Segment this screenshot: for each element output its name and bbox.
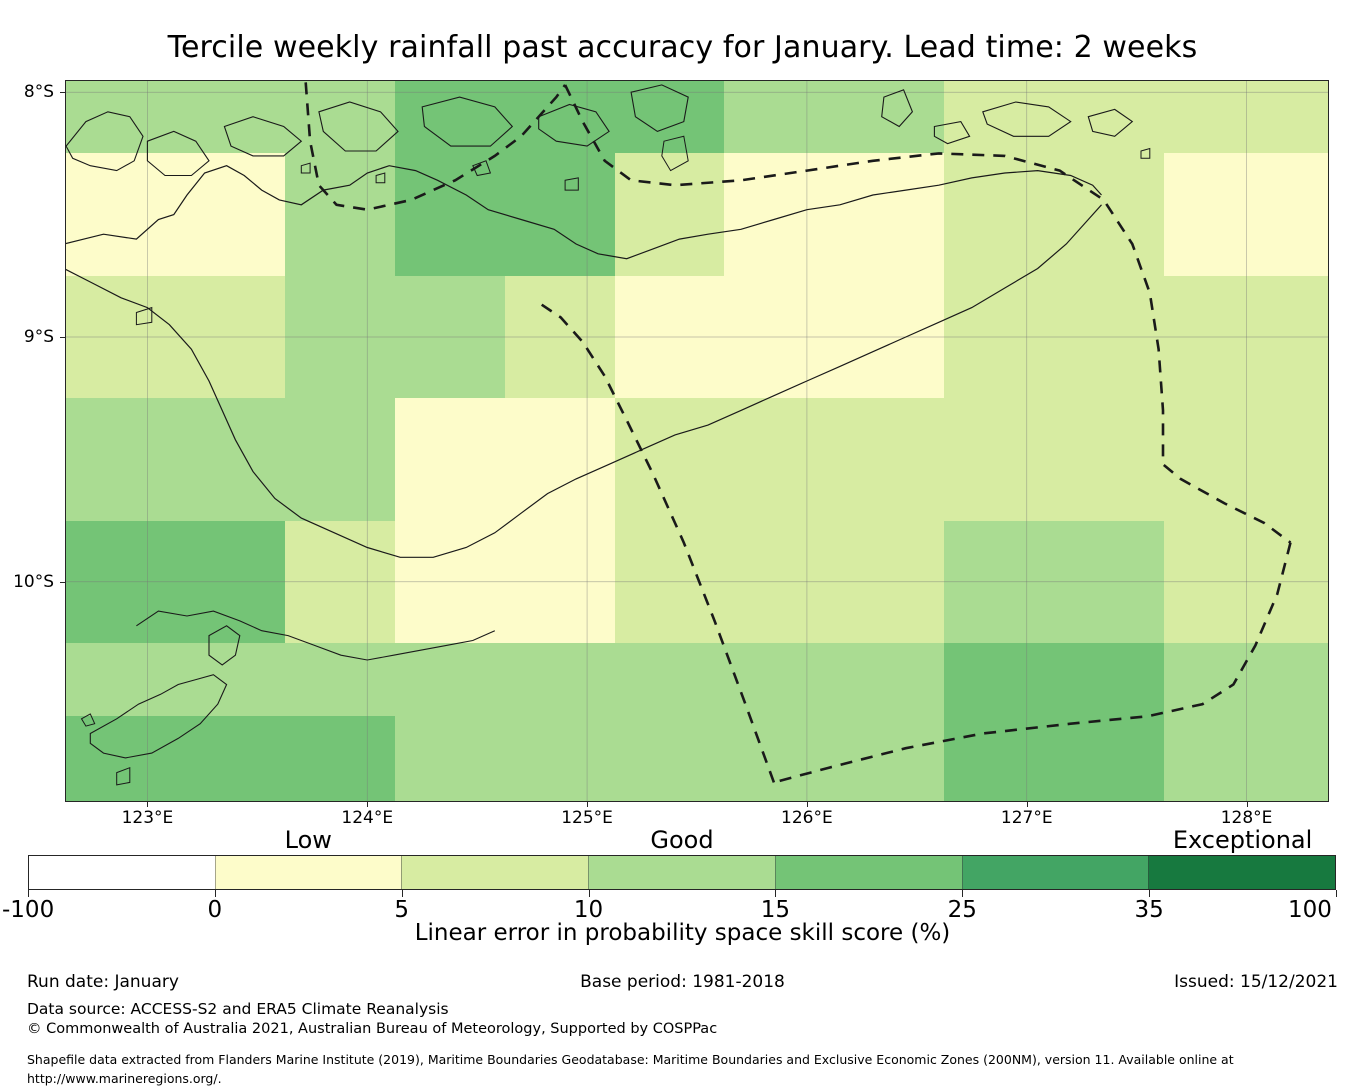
heatmap-cell <box>724 276 835 399</box>
heatmap-cell <box>834 276 945 399</box>
x-tick-mark <box>147 802 148 807</box>
heatmap-cell <box>1164 716 1275 802</box>
heatmap-plot-area <box>65 80 1329 802</box>
heatmap-cell <box>834 398 945 521</box>
heatmap-cell <box>395 643 506 717</box>
colorbar-segment[interactable] <box>1148 856 1335 889</box>
heatmap-cell <box>65 80 176 154</box>
colorbar-ticks: -1000510152535100 <box>0 892 1365 922</box>
colorbar-segment[interactable] <box>962 856 1149 889</box>
heatmap-cell <box>1274 153 1329 276</box>
shapefile-attribution-line2: http://www.marineregions.org/. <box>27 1071 222 1086</box>
x-tick-label: 126°E <box>781 808 833 828</box>
heatmap-cell <box>724 521 835 644</box>
heatmap-cell <box>505 153 616 276</box>
heatmap-cell <box>395 398 506 521</box>
heatmap-cell <box>505 521 616 644</box>
heatmap-cell <box>1054 643 1165 717</box>
y-tick-mark <box>60 92 65 93</box>
heatmap-cell <box>724 153 835 276</box>
shapefile-attribution-line1: Shapefile data extracted from Flanders M… <box>27 1052 1234 1067</box>
heatmap-cell <box>395 716 506 802</box>
y-tick-mark <box>60 337 65 338</box>
heatmap-cell <box>615 643 726 717</box>
heatmap-cell <box>944 80 1055 154</box>
x-tick-label: 127°E <box>1001 808 1053 828</box>
colorbar-tick-mark <box>775 890 776 897</box>
heatmap-cell <box>395 276 506 399</box>
heatmap-cell <box>65 153 176 276</box>
x-tick-mark <box>587 802 588 807</box>
heatmap-cell <box>1054 398 1165 521</box>
heatmap-cell <box>1164 80 1275 154</box>
heatmap-cell <box>834 716 945 802</box>
x-tick-mark <box>807 802 808 807</box>
heatmap-cell <box>834 643 945 717</box>
heatmap-cell <box>65 276 176 399</box>
colorbar-segment[interactable] <box>29 856 215 889</box>
heatmap-cell <box>65 716 176 802</box>
x-tick-mark <box>367 802 368 807</box>
y-tick-mark <box>60 582 65 583</box>
heatmap-cell <box>395 153 506 276</box>
colorbar-tick-mark <box>1149 890 1150 897</box>
heatmap-cell <box>175 153 286 276</box>
heatmap-cell <box>505 716 616 802</box>
heatmap-cell <box>175 398 286 521</box>
heatmap-cell <box>944 398 1055 521</box>
heatmap-cell <box>1274 643 1329 717</box>
heatmap-cell <box>615 716 726 802</box>
heatmap-cell <box>395 80 506 154</box>
footer-top-row: Run date: January Base period: 1981-2018… <box>0 972 1365 998</box>
heatmap-cell <box>1164 398 1275 521</box>
heatmap-cell <box>615 276 726 399</box>
heatmap-cell <box>285 398 396 521</box>
heatmap-cell <box>65 521 176 644</box>
heatmap-cell <box>944 153 1055 276</box>
heatmap-cell <box>285 521 396 644</box>
colorbar-tick-mark <box>215 890 216 897</box>
x-tick-label: 123°E <box>122 808 174 828</box>
colorbar-segment[interactable] <box>588 856 775 889</box>
colorbar[interactable] <box>28 855 1336 890</box>
colorbar-tick-mark <box>962 890 963 897</box>
heatmap-cell <box>285 80 396 154</box>
heatmap-cell <box>505 276 616 399</box>
heatmap-cell <box>834 521 945 644</box>
x-tick-mark <box>1027 802 1028 807</box>
heatmap-cell <box>834 80 945 154</box>
page-title: Tercile weekly rainfall past accuracy fo… <box>0 30 1365 65</box>
heatmap-cell <box>615 398 726 521</box>
y-tick-label: 10°S <box>13 572 54 592</box>
heatmap-cell <box>1164 643 1275 717</box>
heatmap-cell <box>1274 398 1329 521</box>
x-tick-mark <box>1247 802 1248 807</box>
heatmap-cell <box>175 80 286 154</box>
heatmap-cell <box>944 276 1055 399</box>
heatmap-cell <box>1054 716 1165 802</box>
heatmap-cell <box>724 398 835 521</box>
heatmap-cell <box>1274 276 1329 399</box>
heatmap-cell <box>285 276 396 399</box>
heatmap-cell <box>175 643 286 717</box>
heatmap-cell <box>1274 716 1329 802</box>
heatmap-cell <box>1164 153 1275 276</box>
colorbar-tick-mark <box>28 890 29 897</box>
footer: Run date: January Base period: 1981-2018… <box>0 972 1365 998</box>
heatmap-cell <box>615 521 726 644</box>
colorbar-quality-label: Exceptional <box>1173 826 1313 854</box>
heatmap-cell <box>724 80 835 154</box>
heatmap-cell <box>285 716 396 802</box>
heatmap-cell <box>65 643 176 717</box>
heatmap-cell <box>834 153 945 276</box>
heatmap-cell <box>175 276 286 399</box>
heatmap-cell <box>505 80 616 154</box>
heatmap-cell <box>1164 276 1275 399</box>
heatmap-cell <box>1054 80 1165 154</box>
heatmap-cell <box>65 398 176 521</box>
colorbar-tick-mark <box>402 890 403 897</box>
colorbar-quality-label: Good <box>650 826 713 854</box>
heatmap-cell <box>615 80 726 154</box>
data-source: Data source: ACCESS-S2 and ERA5 Climate … <box>27 1000 449 1018</box>
heatmap-cell <box>505 643 616 717</box>
colorbar-quality-label: Low <box>285 826 332 854</box>
heatmap-cell <box>944 521 1055 644</box>
heatmap-cell <box>395 521 506 644</box>
colorbar-tick-mark <box>589 890 590 897</box>
heatmap-cell <box>1274 80 1329 154</box>
x-tick-label: 128°E <box>1221 808 1273 828</box>
heatmap-cell <box>175 716 286 802</box>
colorbar-segment[interactable] <box>775 856 962 889</box>
y-tick-label: 8°S <box>24 82 54 102</box>
colorbar-segment[interactable] <box>401 856 588 889</box>
heatmap-cell <box>285 153 396 276</box>
heatmap-cell <box>1054 276 1165 399</box>
colorbar-tick-mark <box>1336 890 1337 897</box>
base-period: Base period: 1981-2018 <box>0 972 1365 992</box>
x-tick-label: 125°E <box>561 808 613 828</box>
y-tick-label: 9°S <box>24 327 54 347</box>
heatmap-cell <box>724 716 835 802</box>
heatmap-cell <box>944 716 1055 802</box>
heatmap-cell <box>1164 521 1275 644</box>
heatmap-cell <box>944 643 1055 717</box>
heatmap-cell <box>615 153 726 276</box>
issued-date: Issued: 15/12/2021 <box>1174 972 1338 992</box>
heatmap-cell <box>724 643 835 717</box>
heatmap-cell <box>1274 521 1329 644</box>
heatmap-cell <box>175 521 286 644</box>
colorbar-segment[interactable] <box>215 856 402 889</box>
heatmap-cell <box>505 398 616 521</box>
heatmap-cell <box>1054 153 1165 276</box>
colorbar-axis-label: Linear error in probability space skill … <box>0 920 1365 946</box>
copyright-notice: © Commonwealth of Australia 2021, Austra… <box>27 1021 717 1037</box>
x-tick-label: 124°E <box>341 808 393 828</box>
colorbar-quality-labels: LowGoodExceptional <box>0 826 1365 854</box>
heatmap-cell <box>1054 521 1165 644</box>
heatmap-cell <box>285 643 396 717</box>
